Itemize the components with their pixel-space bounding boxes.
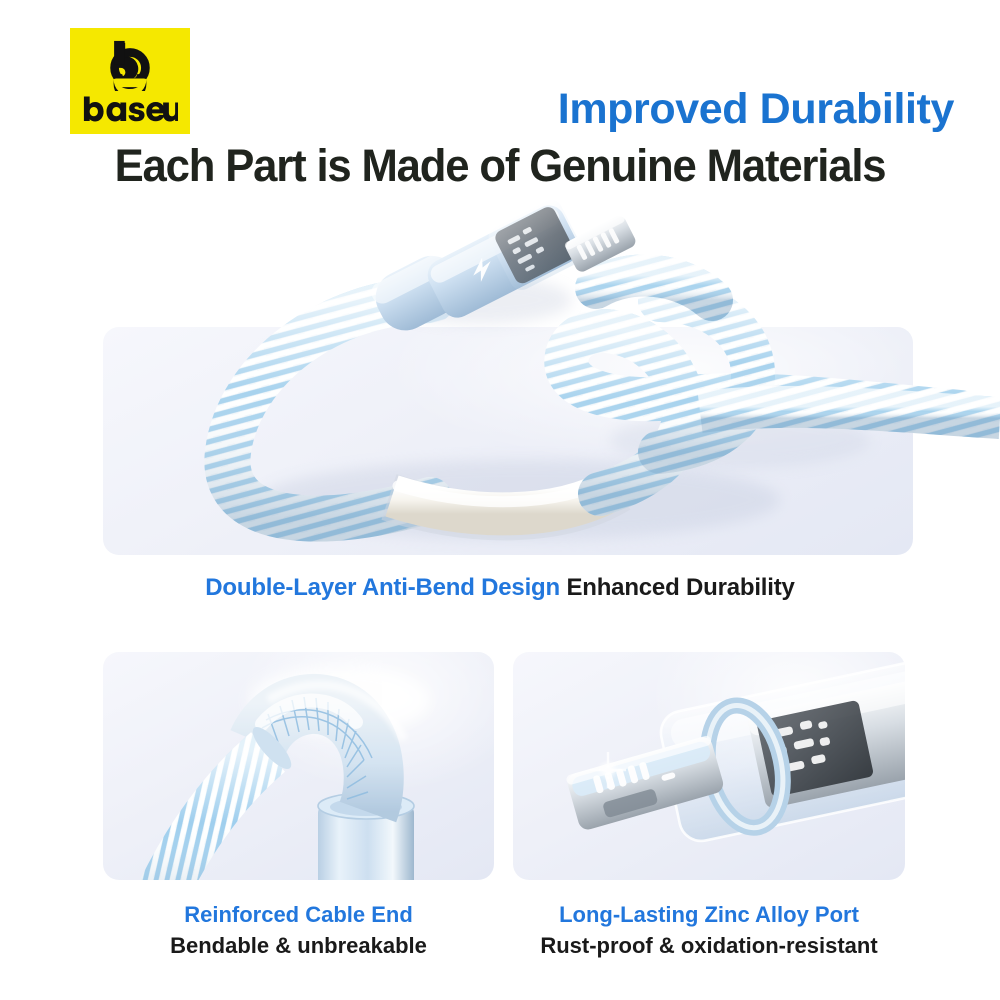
feature-panel-reinforced-end — [103, 652, 494, 880]
panel-sheen — [103, 652, 494, 880]
caption-dark-text: Bendable & unbreakable — [103, 930, 494, 961]
headline-secondary: Each Part is Made of Genuine Materials — [103, 143, 898, 188]
lightning-bolt-icon — [903, 664, 938, 698]
caption-reinforced-end: Reinforced Cable End Bendable & unbreaka… — [103, 899, 494, 961]
feature-panel-zinc-alloy-port — [513, 652, 905, 880]
caption-double-layer: Double-Layer Anti-Bend Design Enhanced D… — [0, 574, 1000, 602]
baseus-b-mark-icon — [101, 39, 159, 91]
headline-secondary-text: Each Part is Made of Genuine Materials — [115, 143, 886, 188]
panel-sheen — [103, 327, 913, 555]
panel-sheen — [513, 652, 905, 880]
caption-zinc-alloy-port: Long-Lasting Zinc Alloy Port Rust-proof … — [513, 899, 905, 961]
feature-panel-double-layer — [103, 327, 913, 555]
caption-blue-text: Double-Layer Anti-Bend Design — [205, 574, 560, 601]
caption-blue-text: Long-Lasting Zinc Alloy Port — [513, 899, 905, 930]
caption-dark-text: Rust-proof & oxidation-resistant — [513, 930, 905, 961]
caption-dark-text: Enhanced Durability — [566, 574, 794, 601]
caption-blue-text: Reinforced Cable End — [103, 899, 494, 930]
brand-logo — [70, 28, 190, 134]
baseus-wordmark — [82, 95, 178, 123]
lightning-connector-head — [367, 195, 638, 339]
headline-primary: Improved Durability — [558, 88, 954, 131]
lightning-bolt-icon — [468, 255, 497, 284]
product-feature-page: Improved Durability Each Part is Made of… — [0, 0, 1000, 1000]
